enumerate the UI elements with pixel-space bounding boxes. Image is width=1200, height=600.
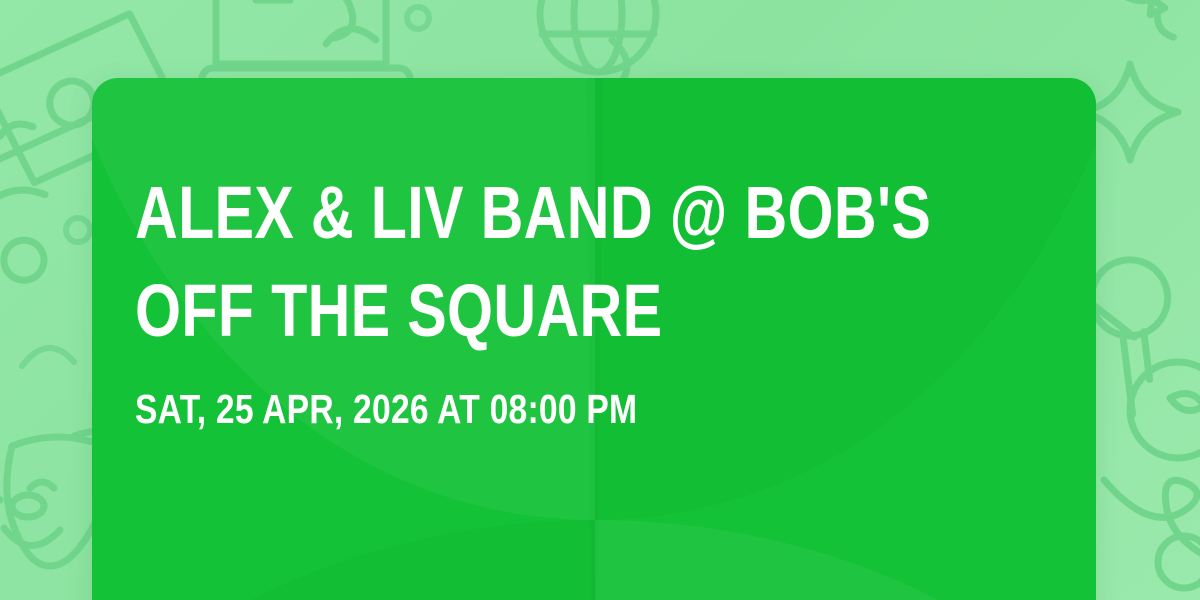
laptop-icon: [202, 0, 410, 90]
event-banner-canvas: Alex & Liv Band @ Bob's Off the Square S…: [0, 0, 1200, 600]
streamer-icon: [1158, 536, 1200, 588]
globe-icon: [540, 0, 656, 72]
sparkle-icon: [1082, 64, 1178, 160]
event-card[interactable]: Alex & Liv Band @ Bob's Off the Square S…: [92, 78, 1096, 600]
balloon-icon: [1095, 0, 1197, 51]
streamer-icon: [1104, 480, 1200, 560]
confetti-dot-icon: [22, 348, 74, 366]
event-card-content: Alex & Liv Band @ Bob's Off the Square S…: [135, 78, 1056, 432]
petal-bottom-right: [595, 520, 1096, 600]
confetti-dot-icon: [66, 218, 90, 242]
sparkle-small-icon: [407, 7, 429, 29]
ticket-icon: [0, 187, 56, 285]
petal-bottom-left: [92, 520, 595, 600]
event-datetime: Sat, 25 Apr, 2026 at 08:00 PM: [135, 360, 1056, 432]
streamer-icon: [1130, 362, 1200, 458]
theater-masks-icon: [12, 495, 44, 517]
event-title: Alex & Liv Band @ Bob's Off the Square: [135, 78, 1056, 360]
